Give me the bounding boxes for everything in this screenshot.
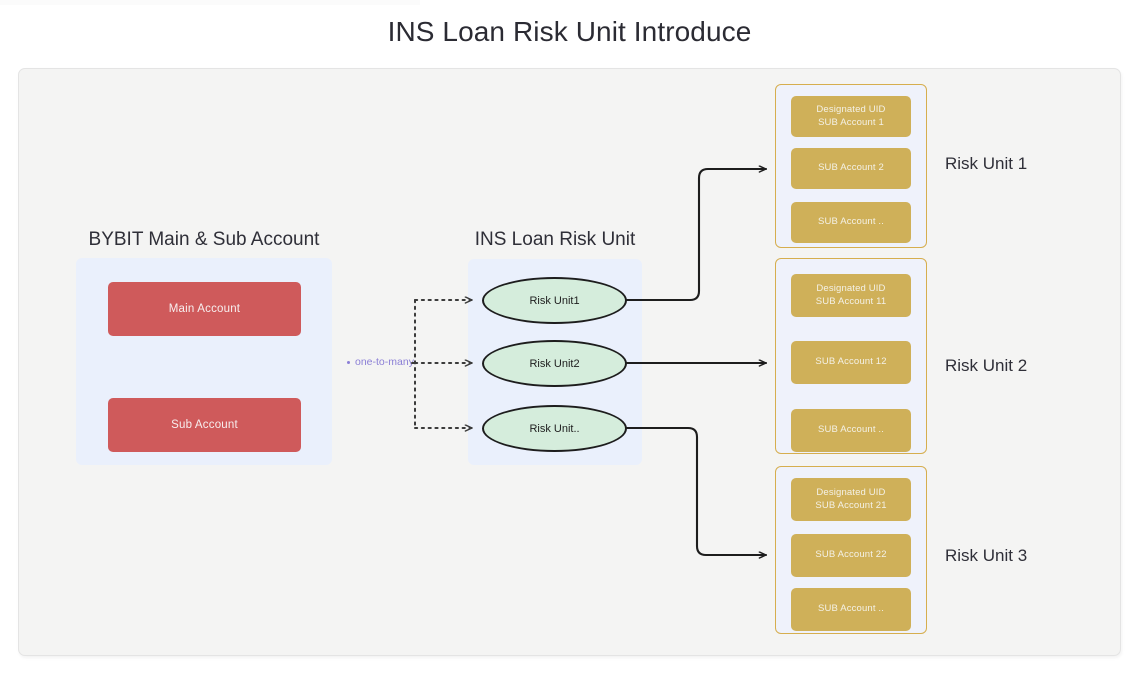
sub-account-box[interactable]: SUB Account 22 xyxy=(791,534,911,577)
one-to-many-edge-label: one-to-many xyxy=(347,356,414,368)
page-title: INS Loan Risk Unit Introduce xyxy=(0,16,1139,48)
main-account-box[interactable]: Main Account xyxy=(108,282,301,336)
risk-unit-3-node[interactable]: Risk Unit.. xyxy=(482,405,627,452)
sub-account-box[interactable]: SUB Account .. xyxy=(791,202,911,243)
risk-unit-1-node[interactable]: Risk Unit1 xyxy=(482,277,627,324)
top-strip xyxy=(0,0,420,5)
sub-account-box[interactable]: Sub Account xyxy=(108,398,301,452)
bullet-dot-icon xyxy=(347,361,350,364)
risk-unit-3-label: Risk Unit 3 xyxy=(945,546,1027,566)
risk-unit-2-node[interactable]: Risk Unit2 xyxy=(482,340,627,387)
one-to-many-text: one-to-many xyxy=(355,356,414,368)
sub-account-box[interactable]: SUB Account .. xyxy=(791,588,911,631)
sub-account-box[interactable]: Designated UIDSUB Account 21 xyxy=(791,478,911,521)
bybit-section-title: BYBIT Main & Sub Account xyxy=(76,229,332,251)
sub-account-box[interactable]: SUB Account .. xyxy=(791,409,911,452)
sub-account-box[interactable]: Designated UIDSUB Account 11 xyxy=(791,274,911,317)
sub-account-box[interactable]: SUB Account 12 xyxy=(791,341,911,384)
sub-account-box[interactable]: SUB Account 2 xyxy=(791,148,911,189)
ins-loan-section-title: INS Loan Risk Unit xyxy=(468,229,642,251)
risk-unit-2-label: Risk Unit 2 xyxy=(945,356,1027,376)
risk-unit-1-label: Risk Unit 1 xyxy=(945,154,1027,174)
sub-account-box[interactable]: Designated UIDSUB Account 1 xyxy=(791,96,911,137)
diagram-stage: INS Loan Risk Unit Introduce BYBIT Main … xyxy=(0,0,1139,681)
